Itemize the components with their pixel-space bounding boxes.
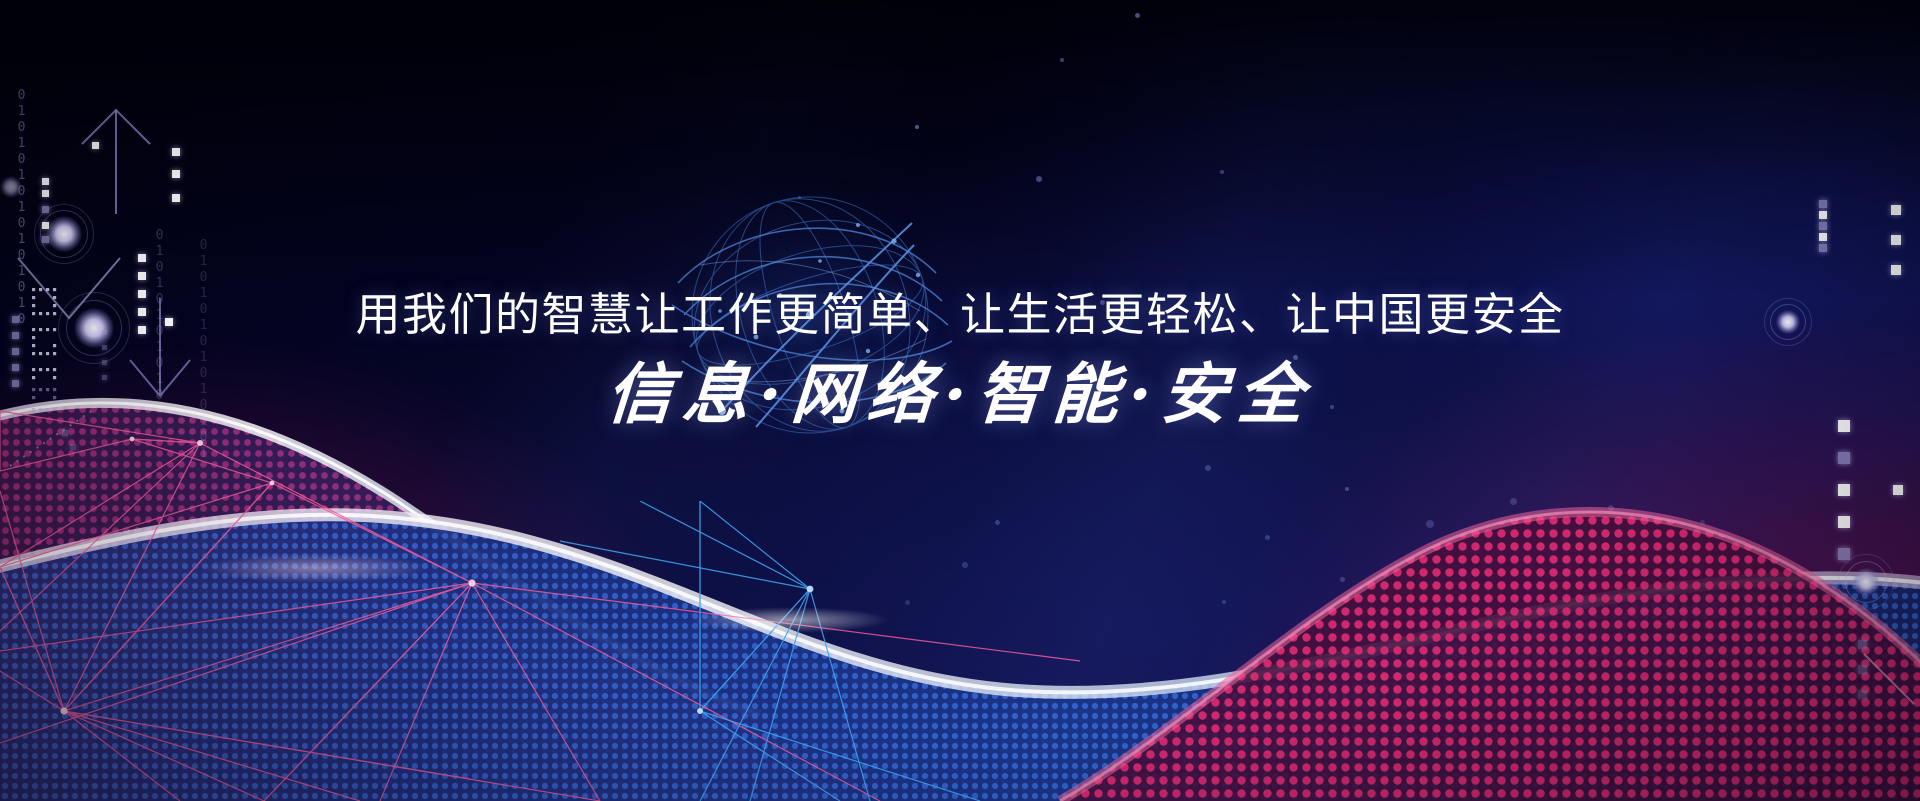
glow-dot-left-3	[0, 176, 22, 198]
marker-square	[1858, 690, 1867, 699]
marker-square	[42, 206, 49, 213]
page-title: 用我们的智慧让工作更简单、让生活更轻松、让中国更安全	[0, 288, 1920, 341]
marker-square	[1858, 665, 1867, 674]
marker-square	[1893, 485, 1903, 495]
hero-text-block: 用我们的智慧让工作更简单、让生活更轻松、让中国更安全 信息·网络·智能·安全	[0, 288, 1920, 433]
marker-square	[1819, 244, 1827, 252]
marker-square	[1819, 233, 1827, 241]
marker-square	[172, 170, 180, 178]
marker-square	[1838, 484, 1850, 496]
marker-square	[138, 254, 146, 262]
marker-square	[172, 148, 180, 156]
marker-square	[1891, 265, 1901, 275]
marker-square	[1891, 205, 1901, 215]
marker-square	[138, 272, 146, 280]
hero-banner: 010101010101010 01010101010 010101010101…	[0, 0, 1920, 801]
marker-square	[42, 236, 49, 243]
page-subtitle: 信息·网络·智能·安全	[0, 357, 1920, 433]
marker-square	[1838, 548, 1850, 560]
marker-square	[1838, 516, 1850, 528]
marker-square	[42, 178, 49, 185]
marker-square	[1858, 640, 1867, 649]
marker-square	[172, 194, 180, 202]
marker-square	[1819, 222, 1827, 230]
marker-square	[42, 190, 49, 197]
marker-square	[42, 222, 49, 229]
pointer-line-icon	[1862, 650, 1920, 730]
crest-glow-left	[200, 553, 430, 583]
marker-square	[1838, 452, 1850, 464]
polygon-network-center	[540, 501, 1240, 801]
marker-square	[1891, 235, 1901, 245]
marker-square	[1819, 200, 1827, 208]
arrow-up-icon	[76, 104, 156, 219]
marker-square	[1819, 211, 1827, 219]
wave-graphics	[0, 371, 1920, 801]
crest-glow-center	[690, 607, 890, 633]
marker-square	[92, 142, 99, 149]
